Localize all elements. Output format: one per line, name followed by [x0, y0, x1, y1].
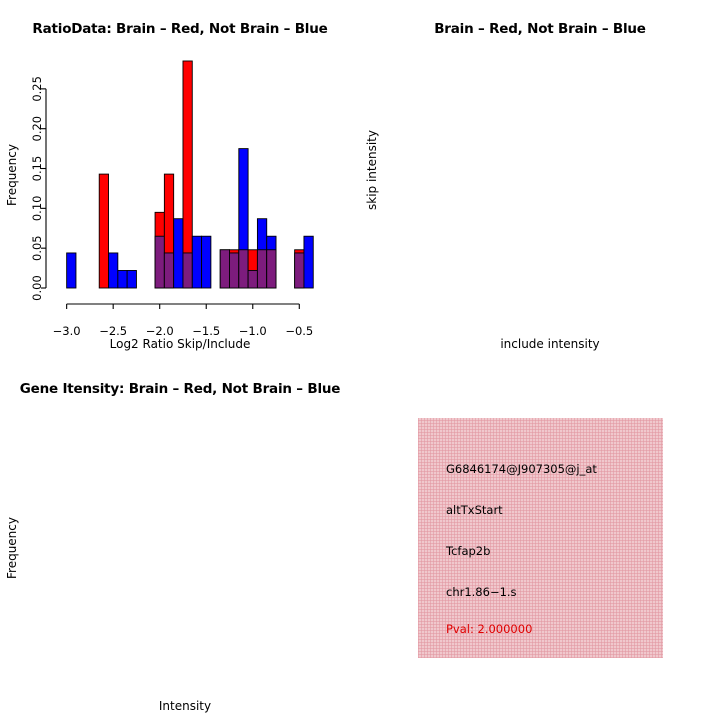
scatter-ylabel: skip intensity — [365, 130, 379, 210]
histogram-bar-overlap — [155, 236, 164, 288]
histogram-bar-overlap — [239, 250, 248, 288]
histogram-bar-overlap — [230, 253, 239, 288]
histogram-bar — [192, 236, 201, 288]
ratio-histogram-svg: −3.0−2.5−2.0−1.5−1.0−0.50.000.050.100.15… — [0, 0, 360, 360]
gene-histogram-svg: 10203040500.000.050.100.150.20 Intensity… — [0, 360, 360, 720]
ratio-histogram-xlabel: Log2 Ratio Skip/Include — [110, 337, 251, 351]
x-axis-tick-label: −3.0 — [53, 324, 81, 338]
y-axis-tick-label: 0.05 — [30, 235, 44, 261]
panel-scatter: Brain – Red, Not Brain – Blue 5010015020… — [360, 0, 720, 360]
gene-symbol-text: Tcfap2b — [446, 544, 490, 558]
panel-gene-histogram: Gene Itensity: Brain – Red, Not Brain – … — [0, 360, 360, 720]
histogram-bar — [174, 219, 183, 288]
y-axis-tick-label: 0.25 — [30, 76, 44, 102]
info-box: G6846174@J907305@j_at altTxStart Tcfap2b… — [418, 418, 663, 658]
histogram-bar — [99, 174, 108, 288]
histogram-bar — [118, 270, 127, 288]
histogram-bar-overlap — [164, 253, 173, 288]
scatter-xlabel: include intensity — [500, 337, 599, 351]
x-axis-tick-label: −1.0 — [239, 324, 267, 338]
figure-page: RatioData: Brain – Red, Not Brain – Blue… — [0, 0, 720, 720]
x-axis-tick-label: −2.5 — [99, 324, 127, 338]
ratio-histogram-ylabel: Frequency — [5, 144, 19, 206]
y-axis-tick-label: 0.00 — [30, 275, 44, 301]
pval-text: Pval: 2.000000 — [446, 622, 532, 636]
event-type-text: altTxStart — [446, 503, 503, 517]
x-axis-tick-label: −2.0 — [146, 324, 174, 338]
histogram-bar — [67, 253, 76, 288]
scatter-svg: 501001502001020304050 include intensity … — [360, 0, 720, 360]
gene-histogram-ylabel: Frequency — [5, 517, 19, 579]
x-axis-tick-label: −1.5 — [192, 324, 220, 338]
x-axis-tick-label: −0.5 — [285, 324, 313, 338]
y-axis-tick-label: 0.10 — [30, 196, 44, 222]
panel-ratio-histogram: RatioData: Brain – Red, Not Brain – Blue… — [0, 0, 360, 360]
histogram-bar-overlap — [257, 250, 266, 288]
histogram-bar — [127, 270, 136, 288]
ratio-histogram-title: RatioData: Brain – Red, Not Brain – Blue — [0, 21, 360, 37]
histogram-bar — [202, 236, 211, 288]
scatter-title: Brain – Red, Not Brain – Blue — [360, 21, 720, 37]
panel-info: G6846174@J907305@j_at altTxStart Tcfap2b… — [360, 360, 720, 720]
gene-histogram-title: Gene Itensity: Brain – Red, Not Brain – … — [0, 381, 360, 397]
histogram-bar-overlap — [267, 250, 276, 288]
probe-id-text: G6846174@J907305@j_at — [446, 462, 597, 476]
y-axis-tick-label: 0.20 — [30, 116, 44, 142]
y-axis-tick-label: 0.15 — [30, 156, 44, 182]
locus-text: chr1.86−1.s — [446, 585, 517, 599]
histogram-bar — [109, 253, 118, 288]
histogram-bar-overlap — [295, 253, 304, 288]
histogram-bar — [304, 236, 313, 288]
ratio-histogram-bars — [67, 61, 314, 288]
histogram-bar-overlap — [220, 250, 229, 288]
gene-histogram-xlabel: Intensity — [159, 699, 211, 713]
histogram-bar-overlap — [248, 270, 257, 288]
histogram-bar-overlap — [183, 253, 192, 288]
